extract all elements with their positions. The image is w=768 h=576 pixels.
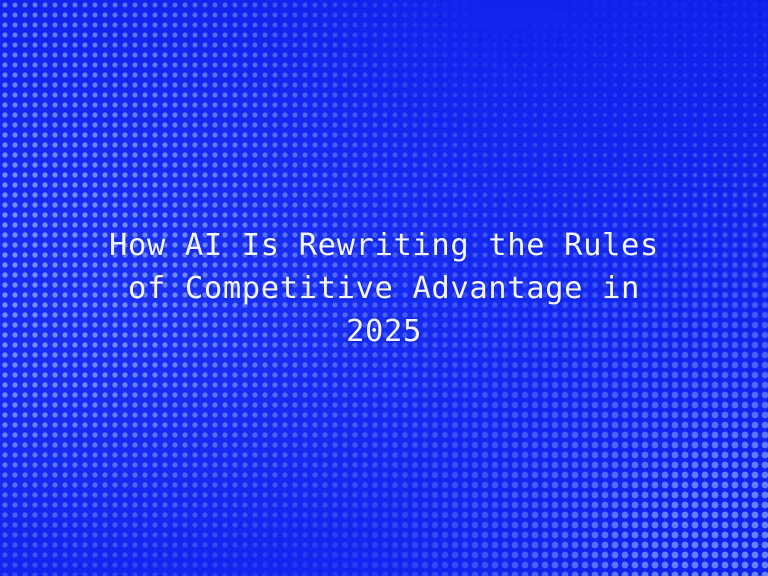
banner-headline: How AI Is Rewriting the Rules of Competi…	[104, 224, 664, 353]
article-hero-banner: How AI Is Rewriting the Rules of Competi…	[0, 0, 768, 576]
headline-container: How AI Is Rewriting the Rules of Competi…	[0, 0, 768, 576]
